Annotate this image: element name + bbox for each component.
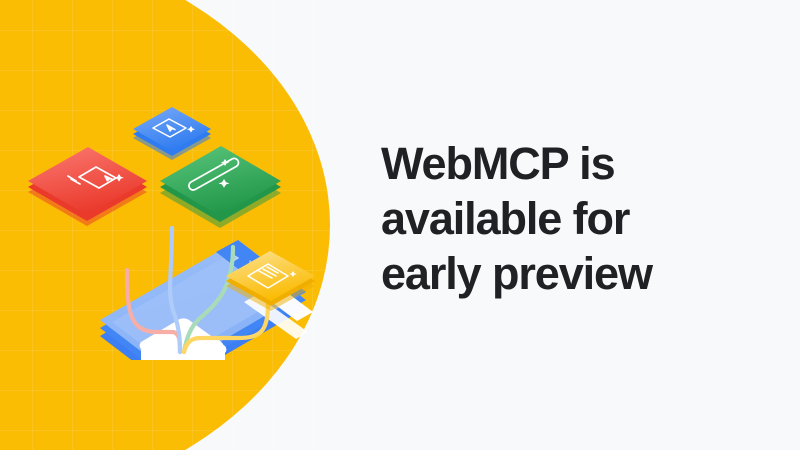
tile-red-layers — [28, 147, 147, 226]
hero-illustration — [20, 80, 320, 360]
tile-green-wand — [160, 146, 281, 228]
tile-blue-pointer — [133, 107, 211, 160]
page-title: WebMCP is available for early preview — [381, 136, 741, 301]
banner-canvas: WebMCP is available for early preview — [0, 0, 800, 450]
